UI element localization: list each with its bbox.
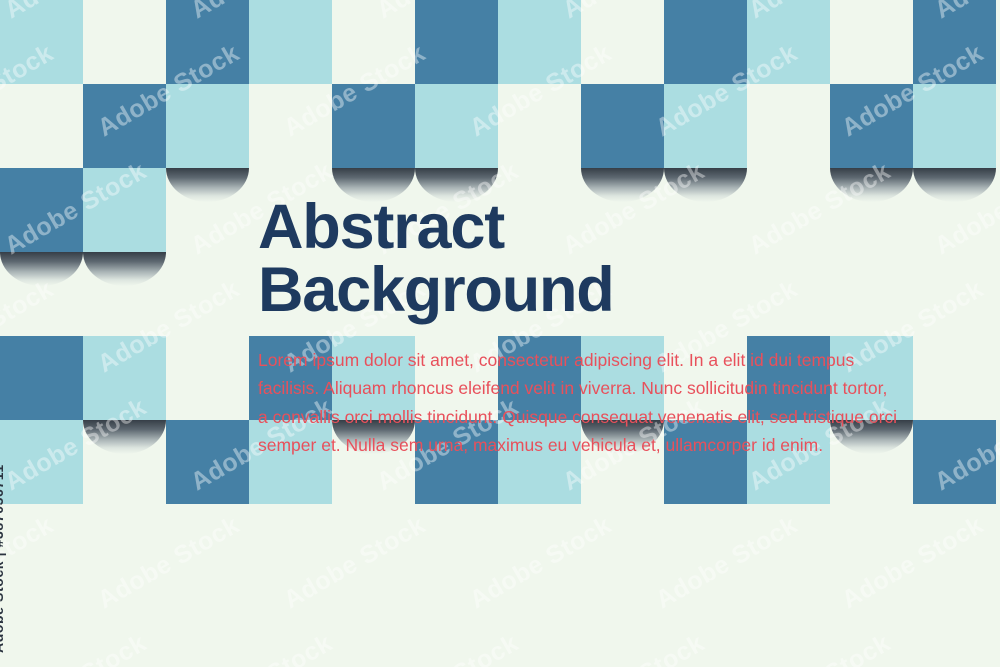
watermark-text: Adobe Stock (0, 157, 152, 261)
tile-drop-shadow (166, 84, 249, 118)
tile-drop-shadow (498, 84, 581, 118)
tile-drop-shadow (747, 84, 830, 118)
pattern-tile-blue (830, 84, 913, 168)
pattern-tile-blue (913, 420, 996, 504)
body-paragraph: Lorem ipsum dolor sit amet, consectetur … (258, 322, 898, 459)
poster-canvas: Adobe StockAdobe StockAdobe StockAdobe S… (0, 0, 1000, 667)
tile-drop-shadow (913, 84, 996, 118)
tile-drop-shadow (83, 420, 166, 454)
pattern-tile-cyan (747, 0, 830, 84)
watermark-text: Adobe Stock (558, 629, 710, 667)
pattern-tile-cyan (0, 0, 83, 84)
pattern-tile-blue (0, 168, 83, 252)
watermark-text: Adobe Stock (930, 393, 1000, 497)
watermark-text: Adobe Stock (744, 629, 896, 667)
tile-drop-shadow (0, 252, 83, 286)
pattern-tile-cream (332, 0, 415, 84)
watermark-text: Adobe Stock (0, 393, 152, 497)
pattern-tile-blue (415, 0, 498, 84)
watermark-text: Adobe Stock (930, 629, 1000, 667)
watermark-text: Adobe Stock (0, 275, 59, 379)
watermark-text: Adobe Stock (93, 275, 245, 379)
watermark-text: Adobe Stock (93, 39, 245, 143)
pattern-tile-cyan (913, 84, 996, 168)
watermark-text: Adobe Stock (465, 39, 617, 143)
pattern-tile-cyan (249, 0, 332, 84)
watermark-text: Adobe Stock (186, 629, 338, 667)
pattern-tile-cream (747, 84, 830, 168)
watermark-text: Adobe Stock (0, 629, 152, 667)
pattern-tile-blue (332, 84, 415, 168)
watermark-text: Adobe Stock (465, 511, 617, 615)
pattern-tile-cream (581, 0, 664, 84)
tile-drop-shadow (0, 84, 83, 118)
tile-drop-shadow (913, 168, 996, 202)
watermark-text: Adobe Stock (279, 39, 431, 143)
pattern-tile-blue (913, 0, 996, 84)
watermark-text: Adobe Stock (558, 0, 710, 25)
tile-drop-shadow (83, 168, 166, 202)
watermark-text: Adobe Stock (930, 0, 1000, 25)
pattern-tile-blue (664, 0, 747, 84)
tile-drop-shadow (166, 168, 249, 202)
pattern-tile-cyan (83, 168, 166, 252)
pattern-tile-blue (166, 420, 249, 504)
pattern-tile-blue (581, 84, 664, 168)
pattern-tile-cyan (415, 84, 498, 168)
tile-drop-shadow (249, 84, 332, 118)
pattern-tile-cyan (664, 84, 747, 168)
pattern-tile-blue (166, 0, 249, 84)
tile-drop-shadow (664, 84, 747, 118)
pattern-tile-cream (249, 84, 332, 168)
watermark-text: Adobe Stock (279, 511, 431, 615)
pattern-tile-cream (830, 0, 913, 84)
watermark-text: Adobe Stock (186, 0, 338, 25)
pattern-tile-blue (83, 84, 166, 168)
pattern-tile-cyan (0, 420, 83, 504)
pattern-tile-blue (0, 336, 83, 420)
watermark-text: Adobe Stock (651, 511, 803, 615)
pattern-tile-cyan (498, 0, 581, 84)
pattern-tile-cyan (166, 84, 249, 168)
tile-drop-shadow (415, 84, 498, 118)
text-block: Abstract Background Lorem ipsum dolor si… (258, 196, 898, 459)
watermark-text: Adobe Stock (0, 39, 59, 143)
watermark-text: Adobe Stock (372, 629, 524, 667)
tile-drop-shadow (83, 252, 166, 286)
stock-credit-label: Adobe Stock | #387056711 (0, 464, 6, 653)
watermark-text: Adobe Stock (93, 511, 245, 615)
pattern-tile-cream (83, 0, 166, 84)
tile-drop-shadow (0, 420, 83, 454)
pattern-tile-cyan (83, 336, 166, 420)
page-title: Abstract Background (258, 196, 898, 322)
watermark-text: Adobe Stock (930, 157, 1000, 261)
watermark-text: Adobe Stock (372, 0, 524, 25)
watermark-text: Adobe Stock (837, 39, 989, 143)
pattern-tile-cream (0, 84, 83, 168)
watermark-text: Adobe Stock (744, 0, 896, 25)
watermark-text: Adobe Stock (837, 511, 989, 615)
watermark-text: Adobe Stock (0, 511, 59, 615)
pattern-tile-cream (498, 84, 581, 168)
watermark-text: Adobe Stock (651, 39, 803, 143)
watermark-text: Adobe Stock (0, 0, 152, 25)
